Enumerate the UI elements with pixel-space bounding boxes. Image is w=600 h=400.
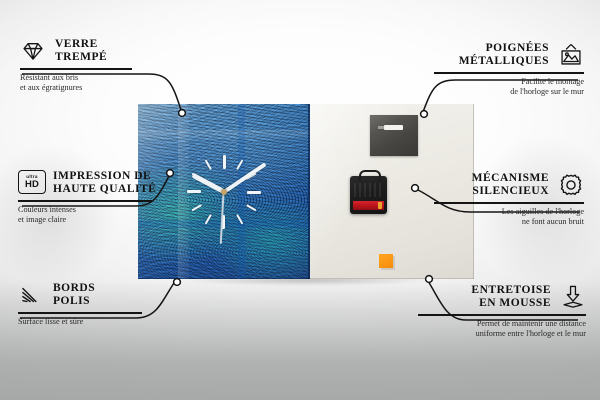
- feature-verre-trempe: VERRE TREMPÉ Résistant aux bris et aux é…: [20, 38, 160, 94]
- feature-rule: [18, 200, 152, 202]
- feature-subtitle: Les aiguilles de l'horloge ne font aucun…: [424, 207, 584, 227]
- polished-edge-lines-icon: [18, 282, 44, 308]
- feature-rule: [20, 68, 132, 70]
- metal-hanger-plate: [370, 115, 418, 156]
- feature-title: ENTRETOISE EN MOUSSE: [471, 284, 551, 310]
- feature-title: MÉCANISME SILENCIEUX: [472, 172, 549, 198]
- hanger-slot: [384, 125, 403, 130]
- feature-rule: [18, 312, 142, 314]
- battery: [353, 201, 384, 210]
- feature-impression-haute-qualite: ultra HD IMPRESSION DE HAUTE QUALITÉ Cou…: [18, 170, 178, 226]
- feature-subtitle: Couleurs intenses et image claire: [18, 205, 178, 225]
- ultra-hd-badge-icon: ultra HD: [18, 170, 44, 196]
- feature-subtitle: Facilite le montage de l'horloge sur le …: [424, 77, 584, 97]
- down-arrow-onto-surface-icon: [560, 284, 586, 310]
- feature-rule: [418, 314, 586, 316]
- feature-rule: [434, 202, 584, 204]
- feature-subtitle: Permet de maintenir une distance uniform…: [414, 319, 586, 339]
- hanging-picture-frame-icon: [558, 42, 584, 68]
- feature-title: BORDS POLIS: [53, 282, 95, 308]
- feature-heading-row: ultra HD IMPRESSION DE HAUTE QUALITÉ: [18, 170, 178, 196]
- feature-heading-row: MÉCANISME SILENCIEUX: [424, 172, 584, 198]
- infographic-canvas: VERRE TREMPÉ Résistant aux bris et aux é…: [0, 0, 600, 400]
- feature-title: VERRE TREMPÉ: [55, 38, 107, 64]
- gear-icon: [558, 172, 584, 198]
- mechanism-hanger-loop: [359, 170, 381, 181]
- foam-spacer: [379, 254, 393, 268]
- feature-bords-polis: BORDS POLIS Surface lisse et sûre: [18, 282, 168, 327]
- feature-mecanisme-silencieux: MÉCANISME SILENCIEUX Les aiguilles de l'…: [424, 172, 584, 228]
- mechanism-ridges: [354, 183, 383, 197]
- feature-subtitle: Surface lisse et sûre: [18, 317, 168, 327]
- hd-label: HD: [25, 180, 39, 190]
- diamond-icon: [20, 38, 46, 64]
- feature-entretoise-en-mousse: ENTRETOISE EN MOUSSE Permet de maintenir…: [414, 284, 586, 340]
- feature-heading-row: ENTRETOISE EN MOUSSE: [414, 284, 586, 310]
- feature-title: IMPRESSION DE HAUTE QUALITÉ: [53, 170, 156, 196]
- feature-poignees-metalliques: POIGNÉES MÉTALLIQUES Facilite le montage…: [424, 42, 584, 98]
- feature-rule: [434, 72, 584, 74]
- feature-title: POIGNÉES MÉTALLIQUES: [459, 42, 549, 68]
- feature-heading-row: BORDS POLIS: [18, 282, 168, 308]
- feature-heading-row: VERRE TREMPÉ: [20, 38, 160, 64]
- feature-subtitle: Résistant aux bris et aux égratignures: [20, 73, 160, 93]
- silent-clock-mechanism: [350, 176, 387, 214]
- feature-heading-row: POIGNÉES MÉTALLIQUES: [424, 42, 584, 68]
